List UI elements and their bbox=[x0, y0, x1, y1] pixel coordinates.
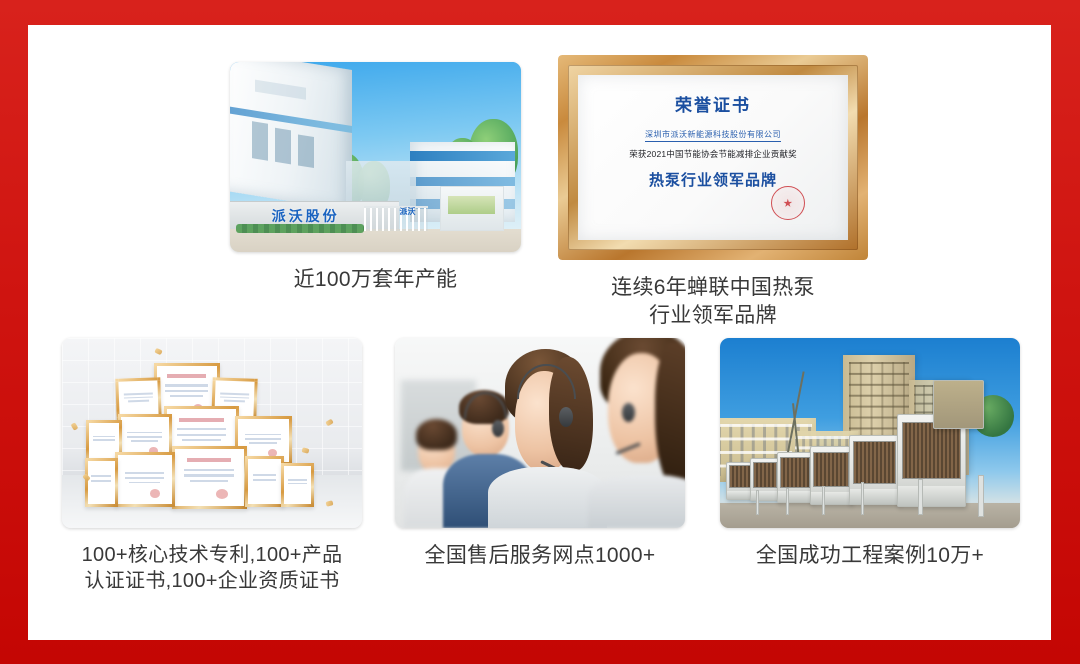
certificate-company: 深圳市派沃新能源科技股份有限公司 bbox=[645, 129, 781, 142]
caption-service: 全国售后服务网点1000+ bbox=[395, 542, 685, 570]
caption-factory: 近100万套年产能 bbox=[230, 266, 521, 294]
factory-entrance-photo: 派沃股份 派沃 bbox=[230, 62, 521, 252]
honour-certificate-photo: 荣誉证书 深圳市派沃新能源科技股份有限公司 荣获2021中国节能协会节能减排企业… bbox=[558, 55, 868, 260]
caption-certificate: 连续6年蝉联中国热泵 行业领军品牌 bbox=[558, 274, 868, 329]
certificate-brand: 热泵行业领军品牌 bbox=[649, 169, 777, 190]
card-factory[interactable]: 派沃股份 派沃 近100万套年产能 bbox=[230, 62, 521, 294]
card-service[interactable]: 全国售后服务网点1000+ bbox=[395, 338, 685, 570]
card-patents[interactable]: 100+核心技术专利,100+产品 认证证书,100+企业资质证书 bbox=[62, 338, 362, 595]
slide-root: 派沃股份 派沃 近100万套年产能 荣誉证书 深圳市派沃新能源科技股份有限公司 … bbox=[0, 0, 1080, 664]
heat-pump-installation-photo bbox=[720, 338, 1020, 528]
caption-patents: 100+核心技术专利,100+产品 认证证书,100+企业资质证书 bbox=[62, 542, 362, 595]
card-certificate[interactable]: 荣誉证书 深圳市派沃新能源科技股份有限公司 荣获2021中国节能协会节能减排企业… bbox=[558, 55, 868, 329]
caption-projects: 全国成功工程案例10万+ bbox=[720, 542, 1020, 570]
card-projects[interactable]: 全国成功工程案例10万+ bbox=[720, 338, 1020, 570]
certificate-award: 荣获2021中国节能协会节能减排企业贡献奖 bbox=[629, 148, 797, 160]
certificate-title: 荣誉证书 bbox=[675, 91, 751, 116]
slide-canvas: 派沃股份 派沃 近100万套年产能 荣誉证书 深圳市派沃新能源科技股份有限公司 … bbox=[28, 25, 1051, 640]
red-seal-stamp-icon bbox=[771, 186, 805, 220]
certificates-wall-photo bbox=[62, 338, 362, 528]
call-center-photo bbox=[395, 338, 685, 528]
factory-gate-logo: 派沃 bbox=[387, 206, 428, 223]
